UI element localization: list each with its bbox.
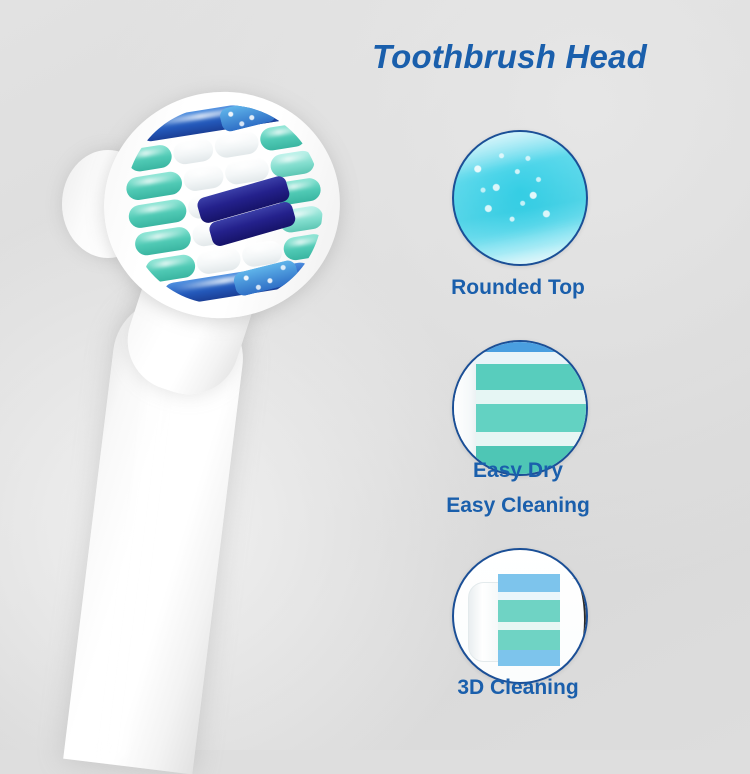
bristle-tuft xyxy=(172,137,215,166)
feature-rounded-top-image[interactable] xyxy=(452,130,588,266)
bristle-band xyxy=(476,404,588,432)
feature-easy-dry-image[interactable] xyxy=(452,340,588,476)
profile-band xyxy=(498,622,560,630)
bristle-glint xyxy=(263,126,302,138)
profile-band xyxy=(498,600,560,622)
bristle-glint xyxy=(273,153,310,165)
bristle-band xyxy=(476,432,588,446)
bristle-band xyxy=(476,352,588,364)
bristle-tuft xyxy=(213,130,260,160)
profile-band xyxy=(498,650,560,666)
profile-band xyxy=(498,574,560,592)
bristle-tuft xyxy=(182,164,225,193)
bristle-glint xyxy=(175,141,209,152)
bristle-glint xyxy=(227,160,264,172)
bristle-glint xyxy=(130,147,167,159)
toothbrush-illustration xyxy=(0,0,430,750)
left-edge-highlight xyxy=(454,342,478,474)
bristle-glint xyxy=(138,229,185,242)
profile-band-stack xyxy=(498,574,560,666)
bristle-band xyxy=(476,340,588,352)
crystal-cluster-bottom xyxy=(232,259,300,298)
bristle-tuft xyxy=(282,232,327,261)
bristle-glint xyxy=(199,250,236,262)
profile-band xyxy=(498,592,560,600)
bristle-tuft xyxy=(269,149,316,179)
bristle-band xyxy=(476,390,588,404)
bristle-glint xyxy=(148,257,190,269)
product-image-canvas: Toothbrush Head Rounded Top xyxy=(0,0,750,750)
profile-band xyxy=(498,630,560,650)
feature-rounded-top-label: Rounded Top xyxy=(378,276,658,300)
brush-head-disc xyxy=(88,75,356,335)
bristle-glint xyxy=(130,174,177,187)
bristle-tuft xyxy=(127,198,188,230)
bristle-field xyxy=(112,92,337,318)
bristle-glint xyxy=(186,167,220,178)
bristle-tuft xyxy=(195,246,242,276)
bristle-band xyxy=(476,364,588,390)
motion-arc-line xyxy=(558,578,586,662)
bristle-band-stack xyxy=(476,340,588,476)
bristle-glint xyxy=(244,243,278,254)
feature-3d-cleaning-image[interactable] xyxy=(452,548,588,684)
feature-easy-cleaning-label: Easy Cleaning xyxy=(378,494,658,518)
bristle-tuft xyxy=(125,170,184,201)
bristle-glint xyxy=(132,202,181,216)
feature-easy-dry-label: Easy Dry xyxy=(378,459,658,483)
bristle-glint xyxy=(286,236,322,247)
bristle-tuft xyxy=(133,225,192,256)
bristle-tuft xyxy=(126,143,173,173)
feature-3d-cleaning-label: 3D Cleaning xyxy=(378,676,658,700)
bristle-glint xyxy=(217,133,254,145)
bristle-tuft xyxy=(259,122,308,152)
